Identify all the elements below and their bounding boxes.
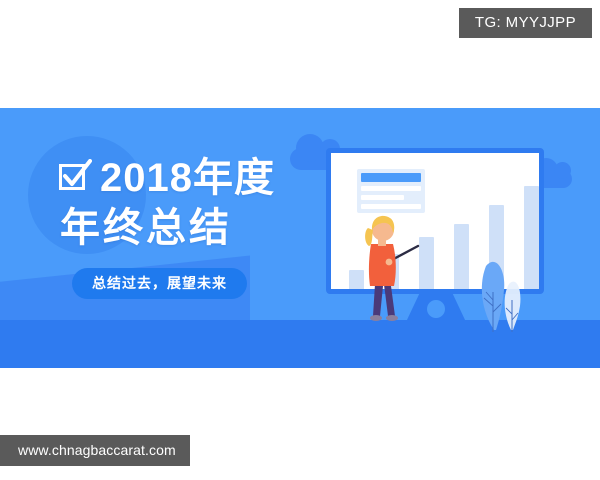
- business-presentation-illustration: [310, 108, 600, 368]
- tree-pale: [505, 282, 521, 330]
- checkbox-checked-icon: [58, 159, 92, 193]
- title-row: 2018年度: [58, 158, 275, 198]
- page-title-line2: 年终总结: [60, 208, 275, 248]
- monitor-stand-dot: [427, 300, 445, 318]
- page-title-line1: 2018年度: [100, 158, 275, 198]
- subtitle-pill: 总结过去，展望未来: [72, 268, 247, 299]
- tree-cluster: [466, 256, 536, 332]
- url-watermark-badge: www.chnagbaccarat.com: [0, 435, 190, 466]
- tg-watermark-badge: TG: MYYJJPP: [459, 8, 592, 38]
- presenter-figure: [358, 200, 422, 326]
- headline-block: 2018年度 年终总结 总结过去，展望未来: [58, 158, 275, 299]
- hero-banner: 2018年度 年终总结 总结过去，展望未来: [0, 108, 600, 368]
